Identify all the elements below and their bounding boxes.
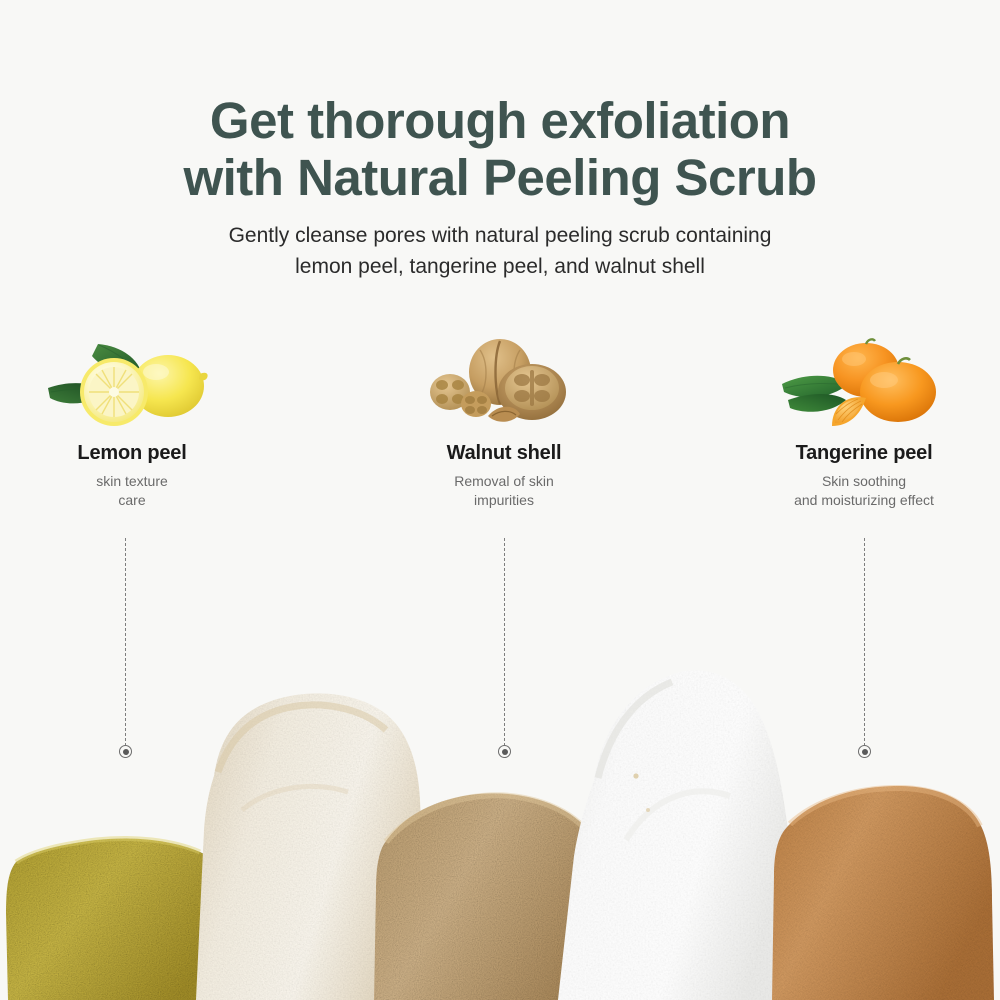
ingredient-lemon: Lemon peel skin texture care [0, 330, 292, 510]
tangerine-icon [774, 330, 954, 430]
infographic-page: Get thorough exfoliation with Natural Pe… [0, 0, 1000, 1000]
powder-tangerine-peel-powder [768, 760, 1000, 1000]
ingredient-name: Tangerine peel [704, 442, 1000, 465]
ingredient-description: Skin soothing and moisturizing effect [704, 472, 1000, 510]
ingredient-description: skin texture care [0, 472, 292, 510]
ingredient-walnut: Walnut shell Removal of skin impurities [344, 330, 664, 510]
powder-composition [0, 660, 1000, 1000]
ingredient-description: Removal of skin impurities [344, 472, 664, 510]
page-title: Get thorough exfoliation with Natural Pe… [0, 92, 1000, 206]
page-subtitle: Gently cleanse pores with natural peelin… [0, 220, 1000, 282]
ingredient-name: Walnut shell [344, 442, 664, 465]
ingredient-tangerine: Tangerine peel Skin soothing and moistur… [704, 330, 1000, 510]
ingredient-name: Lemon peel [0, 442, 292, 465]
walnut-icon [414, 330, 594, 430]
lemon-icon [42, 330, 222, 430]
